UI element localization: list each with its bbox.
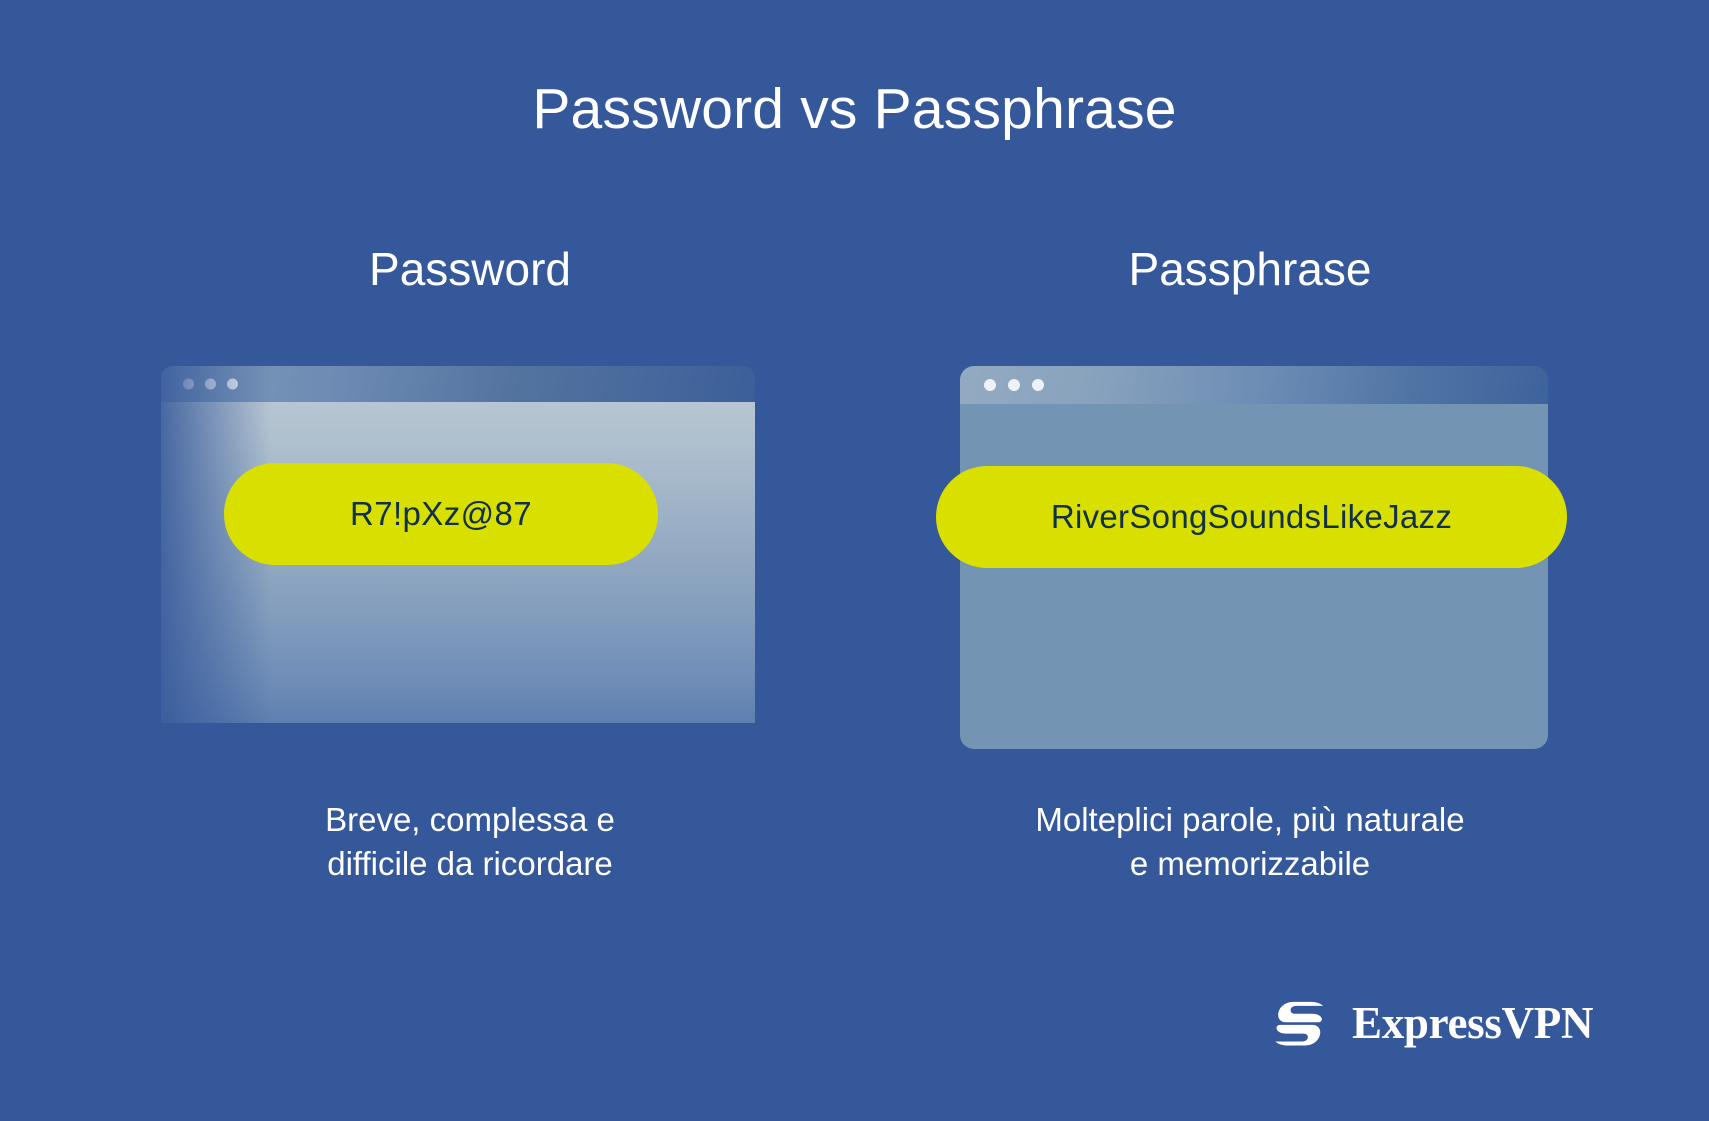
window-dot-minimize-icon: [1008, 379, 1020, 391]
passphrase-caption: Molteplici parole, più naturale e memori…: [930, 798, 1570, 886]
window-titlebar: [161, 366, 755, 402]
expressvpn-e-logo-icon: [1272, 990, 1338, 1056]
password-caption-line-2: difficile da ricordare: [150, 842, 790, 886]
passphrase-window-card: RiverSongSoundsLikeJazz: [960, 366, 1548, 749]
brand-lockup: ExpressVPN: [1272, 990, 1593, 1056]
window-dot-close-icon: [984, 379, 996, 391]
window-body: [960, 404, 1548, 749]
password-caption-line-1: Breve, complessa e: [150, 798, 790, 842]
brand-name: ExpressVPN: [1352, 1001, 1593, 1046]
page-title: Password vs Passphrase: [0, 78, 1709, 141]
passphrase-caption-line-1: Molteplici parole, più naturale: [930, 798, 1570, 842]
column-heading-passphrase: Passphrase: [940, 243, 1560, 296]
window-dot-maximize-icon: [1032, 379, 1044, 391]
password-sample-pill: R7!pXz@87: [224, 463, 658, 565]
window-titlebar: [960, 366, 1548, 404]
infographic-canvas: Password vs Passphrase Password Passphra…: [0, 0, 1709, 1121]
window-dot-close-icon: [183, 379, 194, 390]
passphrase-caption-line-2: e memorizzabile: [930, 842, 1570, 886]
window-traffic-lights: [183, 379, 238, 390]
password-caption: Breve, complessa e difficile da ricordar…: [150, 798, 790, 886]
password-window-card: R7!pXz@87: [161, 366, 755, 723]
column-heading-password: Password: [160, 243, 780, 296]
passphrase-sample-pill: RiverSongSoundsLikeJazz: [936, 466, 1567, 568]
window-dot-maximize-icon: [227, 379, 238, 390]
window-traffic-lights: [984, 379, 1044, 391]
window-dot-minimize-icon: [205, 379, 216, 390]
